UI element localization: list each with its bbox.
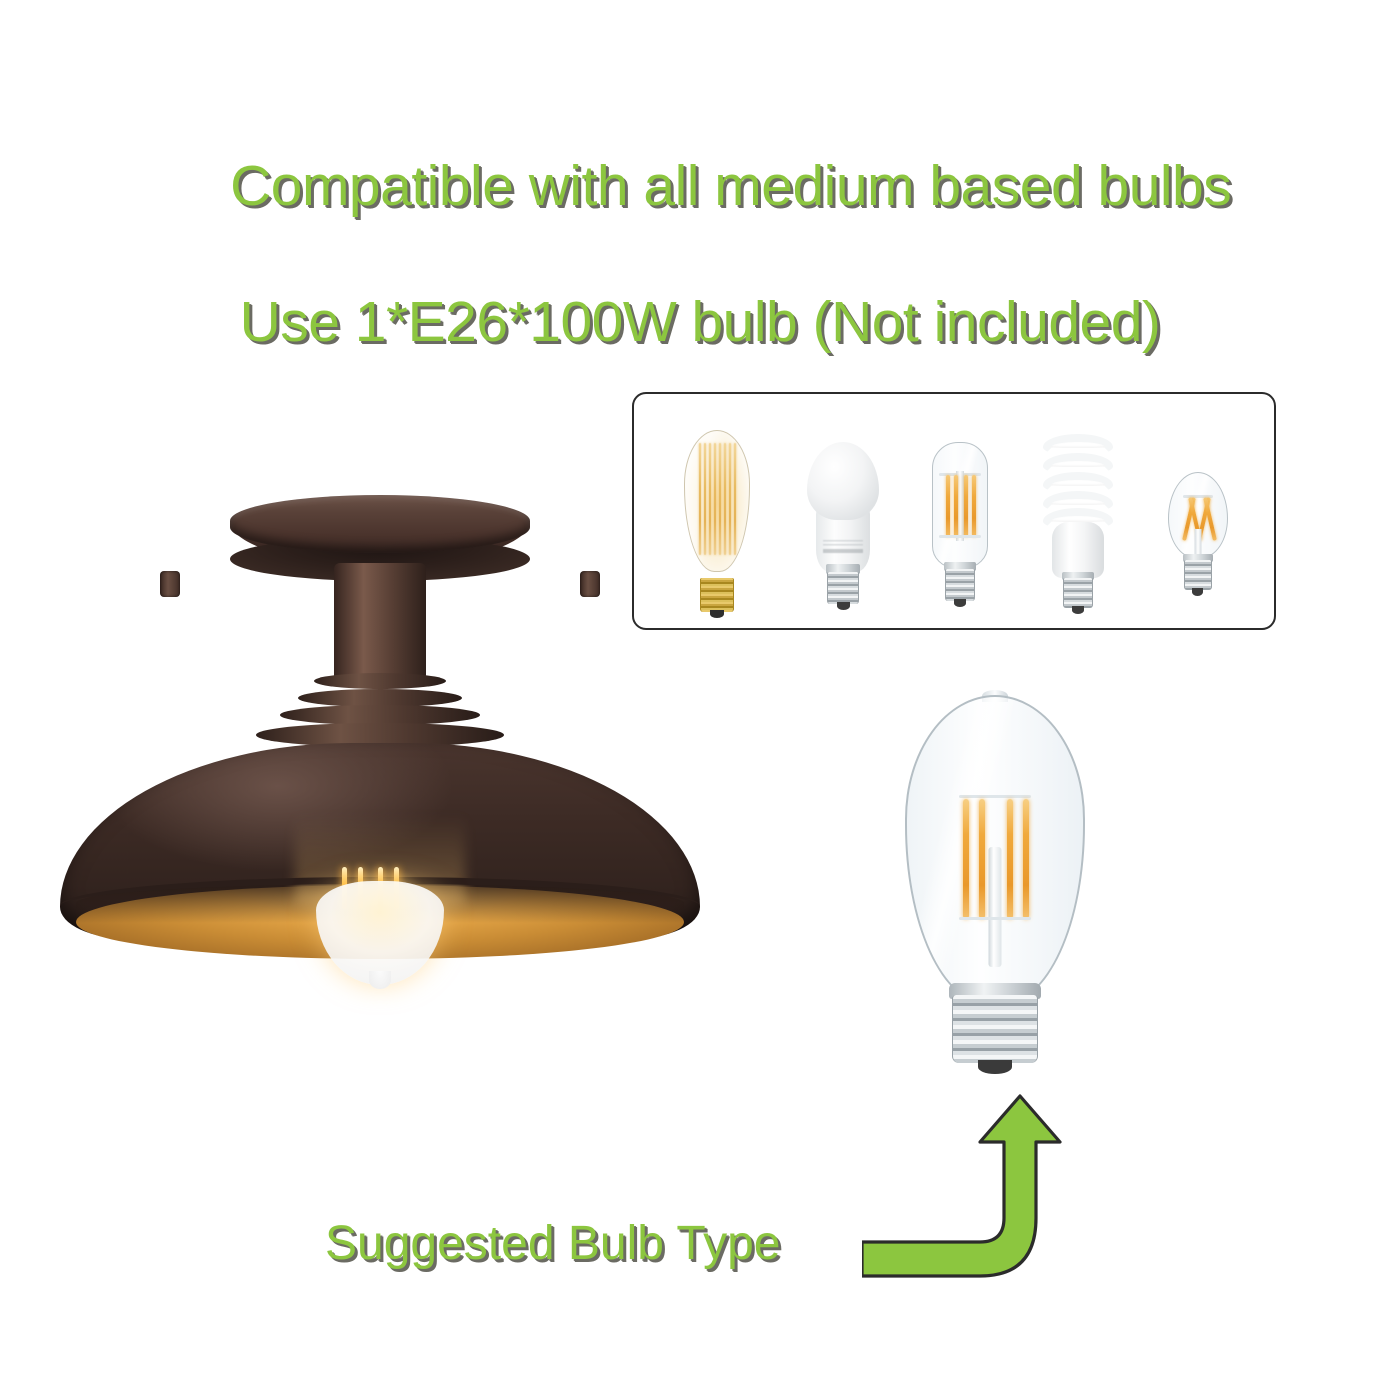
t45-e26-base xyxy=(945,569,975,601)
gallery-item-clear-a15 xyxy=(1168,472,1228,612)
a19-regulatory-print xyxy=(823,538,863,556)
cfl-e26-base xyxy=(1063,578,1093,608)
fixture-bulb xyxy=(316,881,444,985)
t45-filament-4 xyxy=(972,475,976,537)
feature-filament-1 xyxy=(963,799,969,919)
t45-filament-1 xyxy=(946,475,950,537)
feature-filament-4 xyxy=(1023,799,1029,919)
cfl-spiral-bulb-icon xyxy=(1041,434,1115,612)
a15-e26-base xyxy=(1184,560,1212,590)
canopy-screw-right xyxy=(580,571,600,597)
fixture-stem xyxy=(334,563,426,681)
suggested-bulb-type-label: Suggested Bulb Type xyxy=(325,1216,780,1272)
frosted-a19-bulb-icon xyxy=(807,442,879,612)
edison-glass xyxy=(684,430,750,572)
clear-a15-bulb-icon xyxy=(1168,472,1228,612)
feature-bulb-bottom-bridge xyxy=(959,917,1031,920)
gallery-item-frosted-a19-led xyxy=(807,442,879,612)
a19-e26-base xyxy=(827,572,859,604)
edison-filament-cage xyxy=(697,443,737,555)
headline-line-1: Compatible with all medium based bulbs xyxy=(230,154,1231,218)
bent-up-arrow xyxy=(862,1090,1072,1300)
a15-glass-globe xyxy=(1168,472,1228,558)
suggested-bulb-illustration xyxy=(905,695,1085,1075)
fixture-bulb-tip xyxy=(369,971,391,989)
t45-filament-2 xyxy=(954,475,958,537)
stem-ring-1 xyxy=(314,673,446,689)
feature-bulb-e26-base xyxy=(952,995,1038,1063)
ceiling-light-fixture xyxy=(40,485,720,1005)
gallery-row xyxy=(634,394,1274,628)
arrow-shape xyxy=(862,1096,1060,1276)
feature-bulb-glass xyxy=(905,695,1085,1005)
canopy-screw-left xyxy=(160,571,180,597)
ceiling-canopy-plate xyxy=(230,495,530,553)
tubular-t45-bulb-icon xyxy=(932,442,988,612)
gallery-item-tubular-t45 xyxy=(932,442,988,612)
feature-filament-3 xyxy=(1007,799,1013,919)
t45-bottom-bridge xyxy=(939,535,981,538)
cfl-ballast-body xyxy=(1052,522,1104,578)
edison-brass-e26-base xyxy=(700,578,734,612)
t45-filament-3 xyxy=(964,475,968,537)
gallery-item-cfl-spiral xyxy=(1041,434,1115,612)
t45-glass-tube xyxy=(932,442,988,568)
feature-bulb-stem xyxy=(989,847,1002,967)
stem-ring-3 xyxy=(280,705,480,725)
feature-filament-2 xyxy=(979,799,985,919)
headline-line-2: Use 1*E26*100W bulb (Not included) xyxy=(0,288,1400,356)
feature-bulb-top-bridge xyxy=(959,795,1031,798)
compatible-bulb-gallery xyxy=(632,392,1276,630)
vintage-edison-bulb-icon xyxy=(680,430,754,612)
gallery-item-vintage-edison-st64 xyxy=(680,430,754,612)
cfl-spiral-tube xyxy=(1043,434,1113,530)
a19-frosted-dome xyxy=(807,442,879,520)
infographic-canvas: Compatible with all medium based bulbs U… xyxy=(0,0,1400,1400)
